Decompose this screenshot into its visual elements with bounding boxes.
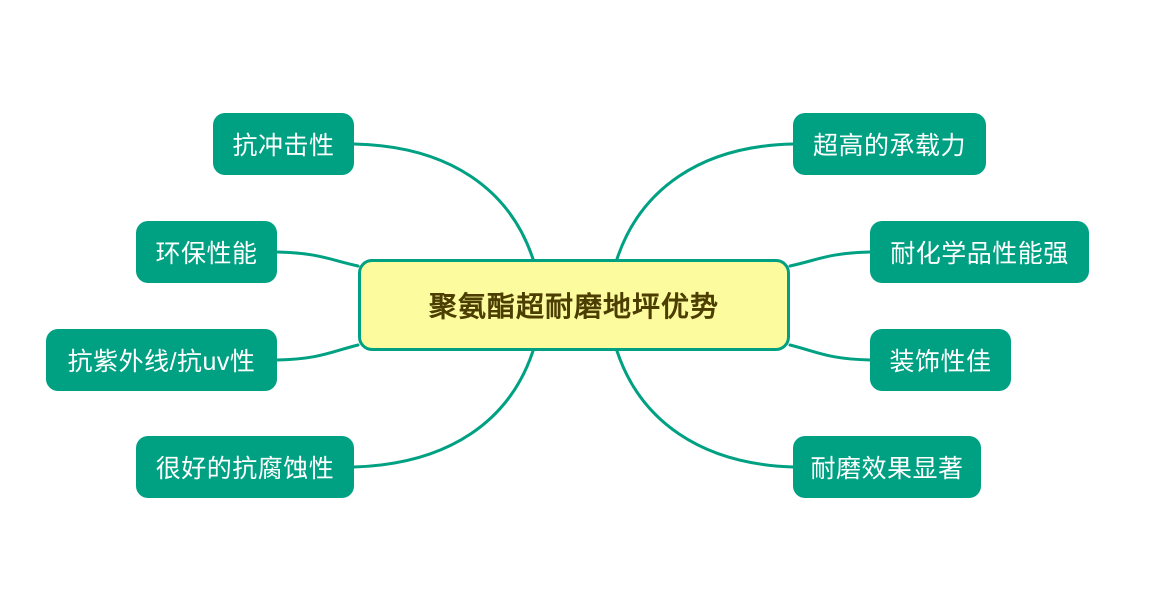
connector-eco xyxy=(277,252,358,266)
branch-label-impact: 抗冲击性 xyxy=(233,126,335,162)
connector-uv xyxy=(277,345,358,360)
connector-impact xyxy=(354,144,533,259)
branch-label-uv: 抗紫外线/抗uv性 xyxy=(68,342,256,378)
branch-label-wear: 耐磨效果显著 xyxy=(811,449,964,485)
branch-label-load: 超高的承载力 xyxy=(813,126,966,162)
branch-node-corrosion[interactable]: 很好的抗腐蚀性 xyxy=(136,436,354,498)
branch-node-chemical[interactable]: 耐化学品性能强 xyxy=(870,221,1089,283)
branch-node-uv[interactable]: 抗紫外线/抗uv性 xyxy=(46,329,277,391)
branch-node-load[interactable]: 超高的承载力 xyxy=(793,113,986,175)
connector-wear xyxy=(617,351,793,467)
branch-node-eco[interactable]: 环保性能 xyxy=(136,221,277,283)
branch-label-eco: 环保性能 xyxy=(156,234,258,270)
connector-load xyxy=(617,144,793,259)
connector-chemical xyxy=(790,252,870,266)
branch-label-chemical: 耐化学品性能强 xyxy=(890,234,1069,270)
branch-node-wear[interactable]: 耐磨效果显著 xyxy=(793,436,981,498)
branch-label-corrosion: 很好的抗腐蚀性 xyxy=(156,449,335,485)
mindmap-canvas: 聚氨酯超耐磨地坪优势 抗冲击性 环保性能 抗紫外线/抗uv性 很好的抗腐蚀性 超… xyxy=(0,0,1163,597)
branch-node-impact[interactable]: 抗冲击性 xyxy=(213,113,354,175)
center-node-label: 聚氨酯超耐磨地坪优势 xyxy=(429,285,719,325)
connector-corrosion xyxy=(354,351,533,467)
branch-node-decorative[interactable]: 装饰性佳 xyxy=(870,329,1011,391)
connector-decorative xyxy=(790,345,870,360)
branch-label-decorative: 装饰性佳 xyxy=(890,342,992,378)
center-node[interactable]: 聚氨酯超耐磨地坪优势 xyxy=(358,259,790,351)
